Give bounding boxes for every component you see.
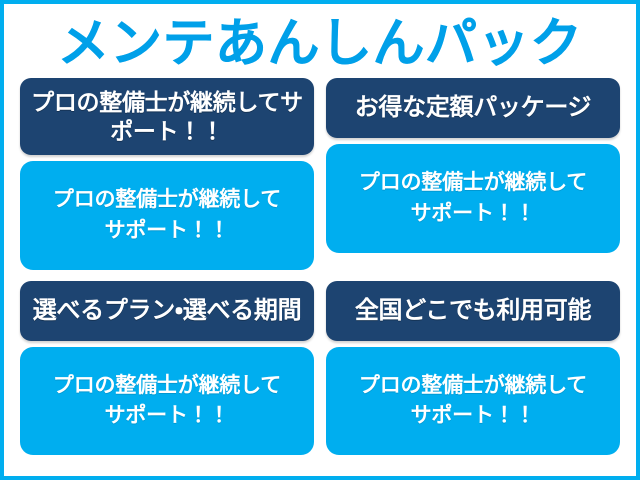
- feature-body-4: プロの整備士が継続して サポート！！: [326, 347, 620, 455]
- feature-heading-2: お得な定額パッケージ: [326, 78, 620, 138]
- feature-body-1: プロの整備士が継続して サポート！！: [20, 161, 314, 270]
- feature-heading-1: プロの整備士が継続してサポート！！: [20, 78, 314, 155]
- feature-body-2: プロの整備士が継続して サポート！！: [326, 144, 620, 253]
- feature-heading-4: 全国どこでも利用可能: [326, 281, 620, 341]
- feature-heading-3: 選べるプラン・選べる期間: [20, 281, 314, 341]
- maintenance-package-banner: メンテあんしんパック プロの整備士が継続してサポート！！ プロの整備士が継続して…: [0, 0, 640, 480]
- feature-card-2: お得な定額パッケージ プロの整備士が継続して サポート！！: [326, 78, 620, 270]
- feature-body-3: プロの整備士が継続して サポート！！: [20, 347, 314, 455]
- feature-card-3: 選べるプラン・選べる期間 プロの整備士が継続して サポート！！: [20, 281, 314, 455]
- page-title: メンテあんしんパック: [57, 18, 582, 70]
- feature-card-4: 全国どこでも利用可能 プロの整備士が継続して サポート！！: [326, 281, 620, 455]
- feature-grid: プロの整備士が継続してサポート！！ プロの整備士が継続して サポート！！ お得な…: [20, 78, 620, 455]
- feature-card-1: プロの整備士が継続してサポート！！ プロの整備士が継続して サポート！！: [20, 78, 314, 270]
